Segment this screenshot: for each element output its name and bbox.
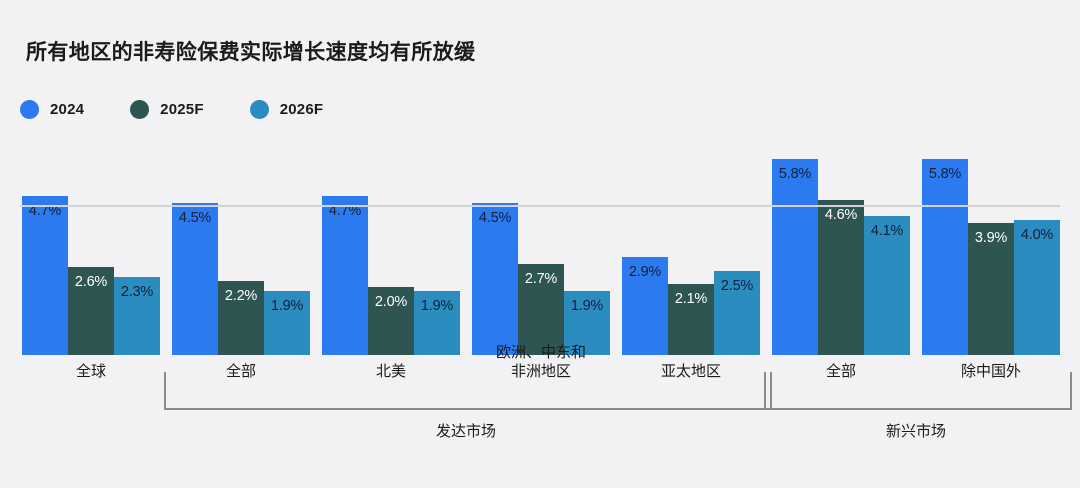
bar[interactable]: 2.7% [518,264,564,355]
bar-value-label: 2.6% [68,274,114,290]
market-group-label: 新兴市场 [764,420,1068,441]
bar-value-label: 1.9% [414,298,460,314]
bar[interactable]: 2.3% [114,277,160,355]
market-bracket [764,372,1072,410]
bar-value-label: 4.5% [472,210,518,226]
bar-value-label: 5.8% [772,166,818,182]
bar-value-label: 4.6% [818,207,864,223]
chart-page: 所有地区的非寿险保费实际增长速度均有所放缓 2024 2025F 2026F 4… [0,0,1080,488]
bar-value-label: 2.3% [114,284,160,300]
bar-value-label: 2.7% [518,271,564,287]
bar-value-label: 2.0% [368,294,414,310]
bar-group: 2.9%2.1%2.5% [622,150,760,355]
bar[interactable]: 4.7% [322,196,368,355]
bar-group: 4.7%2.0%1.9% [322,150,460,355]
bar-value-label: 5.8% [922,166,968,182]
legend-dot-icon [130,100,149,119]
bar[interactable]: 4.0% [1014,220,1060,355]
legend-label-2025f: 2025F [160,101,204,118]
chart-legend: 2024 2025F 2026F [20,100,369,119]
bar-value-label: 2.2% [218,288,264,304]
bar-value-label: 4.0% [1014,227,1060,243]
bar-value-label: 3.9% [968,230,1014,246]
bar[interactable]: 4.5% [472,203,518,355]
bar-group: 4.5%2.7%1.9% [472,150,610,355]
legend-item-2024[interactable]: 2024 [20,100,84,119]
bar[interactable]: 1.9% [264,291,310,355]
legend-item-2026f[interactable]: 2026F [250,100,324,119]
bar-plot-area: 4.7%2.6%2.3%4.5%2.2%1.9%4.7%2.0%1.9%4.5%… [0,150,1080,356]
bar-group: 4.5%2.2%1.9% [172,150,310,355]
bar[interactable]: 2.6% [68,267,114,355]
axis-baseline [20,205,1060,207]
bar-group: 4.7%2.6%2.3% [22,150,160,355]
bar-value-label: 2.1% [668,291,714,307]
legend-dot-icon [20,100,39,119]
bar-value-label: 2.5% [714,278,760,294]
bar-value-label: 1.9% [564,298,610,314]
bar[interactable]: 2.0% [368,287,414,355]
bar[interactable]: 2.1% [668,284,714,355]
category-label: 全球 [22,362,160,381]
bar-value-label: 1.9% [264,298,310,314]
legend-item-2025f[interactable]: 2025F [130,100,204,119]
page-title: 所有地区的非寿险保费实际增长速度均有所放缓 [26,36,475,66]
bar-value-label: 4.1% [864,223,910,239]
legend-label-2026f: 2026F [280,101,324,118]
bar-value-label: 4.5% [172,210,218,226]
bar[interactable]: 1.9% [414,291,460,355]
bar[interactable]: 4.6% [818,200,864,355]
legend-label-2024: 2024 [50,101,84,118]
bar[interactable]: 2.5% [714,271,760,356]
market-group-label: 发达市场 [164,420,768,441]
bar[interactable]: 3.9% [968,223,1014,355]
bar[interactable]: 2.9% [622,257,668,355]
bar[interactable]: 4.7% [22,196,68,355]
bar[interactable]: 4.1% [864,216,910,355]
legend-dot-icon [250,100,269,119]
market-bracket [164,372,772,410]
bar-value-label: 2.9% [622,264,668,280]
bar-group: 5.8%4.6%4.1% [772,150,910,355]
bar[interactable]: 2.2% [218,281,264,355]
bar[interactable]: 4.5% [172,203,218,355]
bar-group: 5.8%3.9%4.0% [922,150,1060,355]
bar[interactable]: 5.8% [772,159,818,355]
bar[interactable]: 5.8% [922,159,968,355]
